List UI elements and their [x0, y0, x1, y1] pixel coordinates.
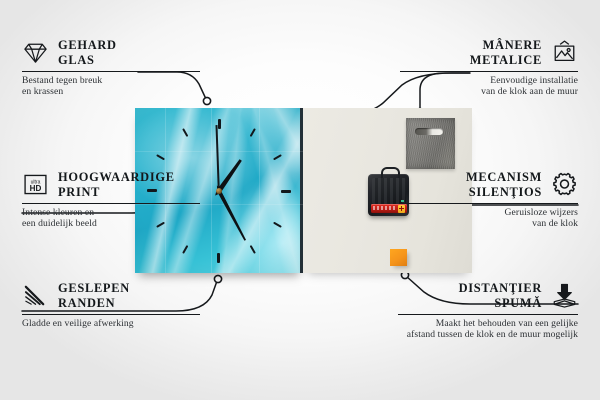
- svg-text:HD: HD: [30, 184, 42, 193]
- feature-divider: [400, 71, 578, 72]
- feature-manere-metalice: MÂNERE METALICE Eenvoudige installatie v…: [400, 38, 578, 98]
- ultra-hd-icon: ultra HD: [22, 171, 49, 198]
- feature-mecanism-silentios: MECANISM SILENŢIOS Geruisloze wijzers va…: [400, 170, 578, 230]
- diamond-icon: [22, 39, 49, 66]
- feature-description: Gladde en veilige afwerking: [22, 318, 200, 330]
- feature-gehard-glas: GEHARD GLAS Bestand tegen breuk en krass…: [22, 38, 200, 98]
- hanger-slot: [415, 128, 443, 135]
- feature-distantier-spuma: DISTANŢIER SPUMĂ Maakt het behouden van …: [398, 281, 578, 341]
- feature-divider: [400, 203, 578, 204]
- feature-divider: [398, 314, 578, 315]
- feature-title: GESLEPEN RANDEN: [58, 281, 130, 310]
- metal-hanger-plate: [406, 118, 455, 169]
- feature-description: Maakt het behouden van een gelijke afsta…: [398, 318, 578, 341]
- feature-title: MÂNERE METALICE: [470, 38, 542, 67]
- battery-label: [373, 206, 397, 210]
- press-down-icon: [551, 282, 578, 309]
- gear-icon: [551, 171, 578, 198]
- feature-title: HOOGWAARDIGE PRINT: [58, 170, 175, 199]
- feature-divider: [22, 203, 200, 204]
- picture-hanger-icon: [551, 39, 578, 66]
- feature-description: Bestand tegen breuk en krassen: [22, 75, 200, 98]
- feature-divider: [22, 71, 200, 72]
- feature-title: GEHARD GLAS: [58, 38, 117, 67]
- feature-description: Eenvoudige installatie van de klok aan d…: [400, 75, 578, 98]
- foam-spacer: [390, 249, 407, 266]
- feature-title: MECANISM SILENŢIOS: [466, 170, 542, 199]
- feature-description: Intense kleuren en een duidelijk beeld: [22, 207, 200, 230]
- clock-center-hub: [216, 188, 222, 194]
- infographic-canvas: GEHARD GLAS Bestand tegen breuk en krass…: [0, 0, 600, 400]
- feature-hoogwaardige-print: ultra HD HOOGWAARDIGE PRINT Intense kleu…: [22, 170, 200, 230]
- beveled-edges-icon: [22, 282, 49, 309]
- feature-title: DISTANŢIER SPUMĂ: [459, 281, 542, 310]
- feature-geslepen-randen: GESLEPEN RANDEN Gladde en veilige afwerk…: [22, 281, 200, 329]
- feature-divider: [22, 314, 200, 315]
- feature-description: Geruisloze wijzers van de klok: [400, 207, 578, 230]
